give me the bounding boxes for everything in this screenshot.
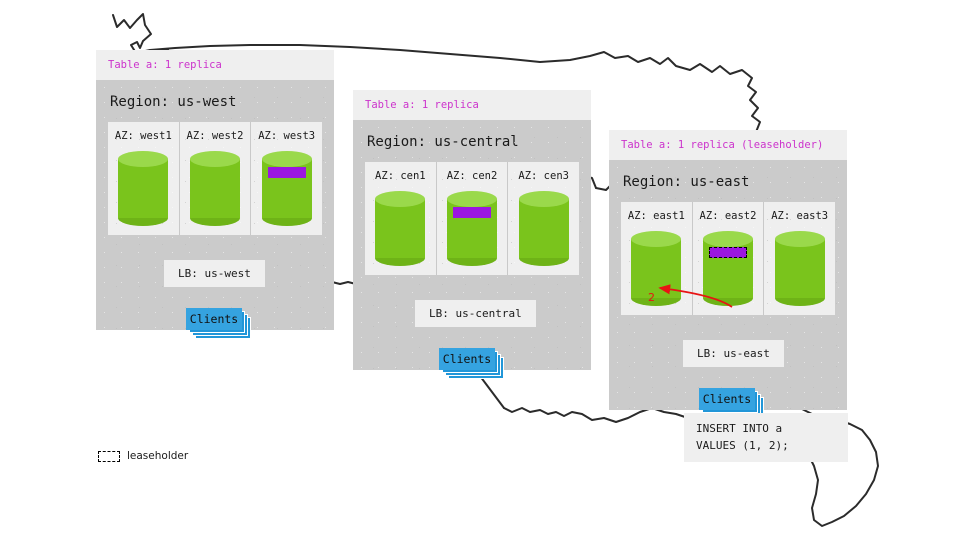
arrow-step-label: 2 (648, 291, 655, 304)
legend-leaseholder: leaseholder (98, 450, 188, 462)
leaseholder-swatch-icon (98, 451, 120, 462)
arrow-path (660, 288, 732, 307)
legend-label: leaseholder (127, 450, 188, 462)
